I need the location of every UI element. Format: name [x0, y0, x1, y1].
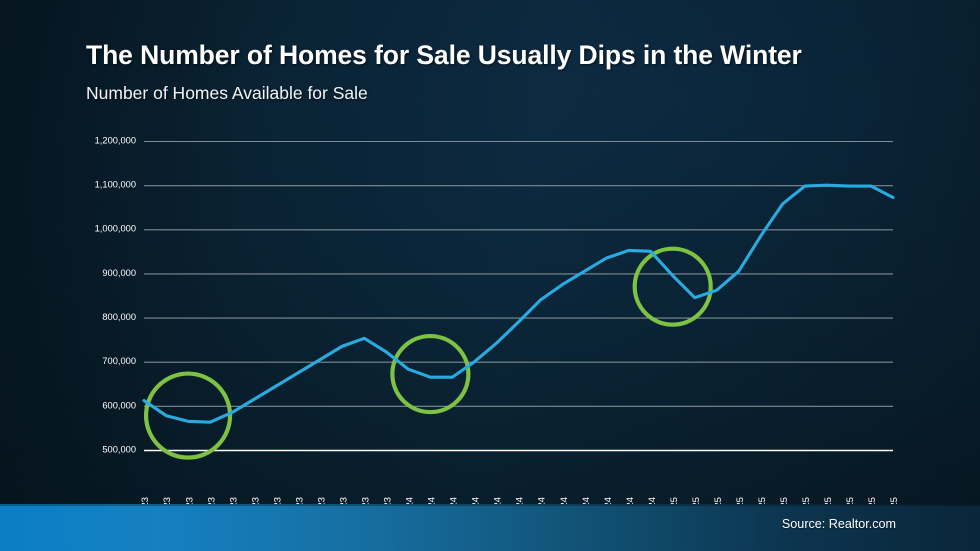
footer-bar: Source: Realtor.com — [0, 504, 980, 551]
slide-canvas: The Number of Homes for Sale Usually Dip… — [0, 0, 980, 551]
source-attribution: Source: Realtor.com — [782, 517, 896, 531]
chart-container: 1,200,0001,100,0001,000,000900,000800,00… — [0, 0, 980, 551]
series-line-homes-available — [144, 185, 893, 422]
y-axis-tick-labels: 1,200,0001,100,0001,000,000900,000800,00… — [95, 135, 136, 454]
y-axis-label: 500,000 — [102, 444, 136, 454]
y-axis-label: 900,000 — [102, 268, 136, 278]
y-axis-label: 600,000 — [102, 400, 136, 410]
y-axis-label: 800,000 — [102, 312, 136, 322]
y-axis-label: 1,100,000 — [95, 180, 136, 190]
line-chart: 1,200,0001,100,0001,000,000900,000800,00… — [0, 0, 980, 551]
highlight-circle-winter-dip-2025 — [635, 249, 711, 325]
gridlines — [144, 142, 893, 407]
data-series-line — [144, 185, 893, 422]
highlight-circles — [146, 249, 711, 458]
highlight-circle-winter-dip-2023 — [146, 374, 230, 458]
y-axis-label: 1,000,000 — [95, 224, 136, 234]
y-axis-label: 1,200,000 — [95, 135, 136, 145]
y-axis-label: 700,000 — [102, 356, 136, 366]
